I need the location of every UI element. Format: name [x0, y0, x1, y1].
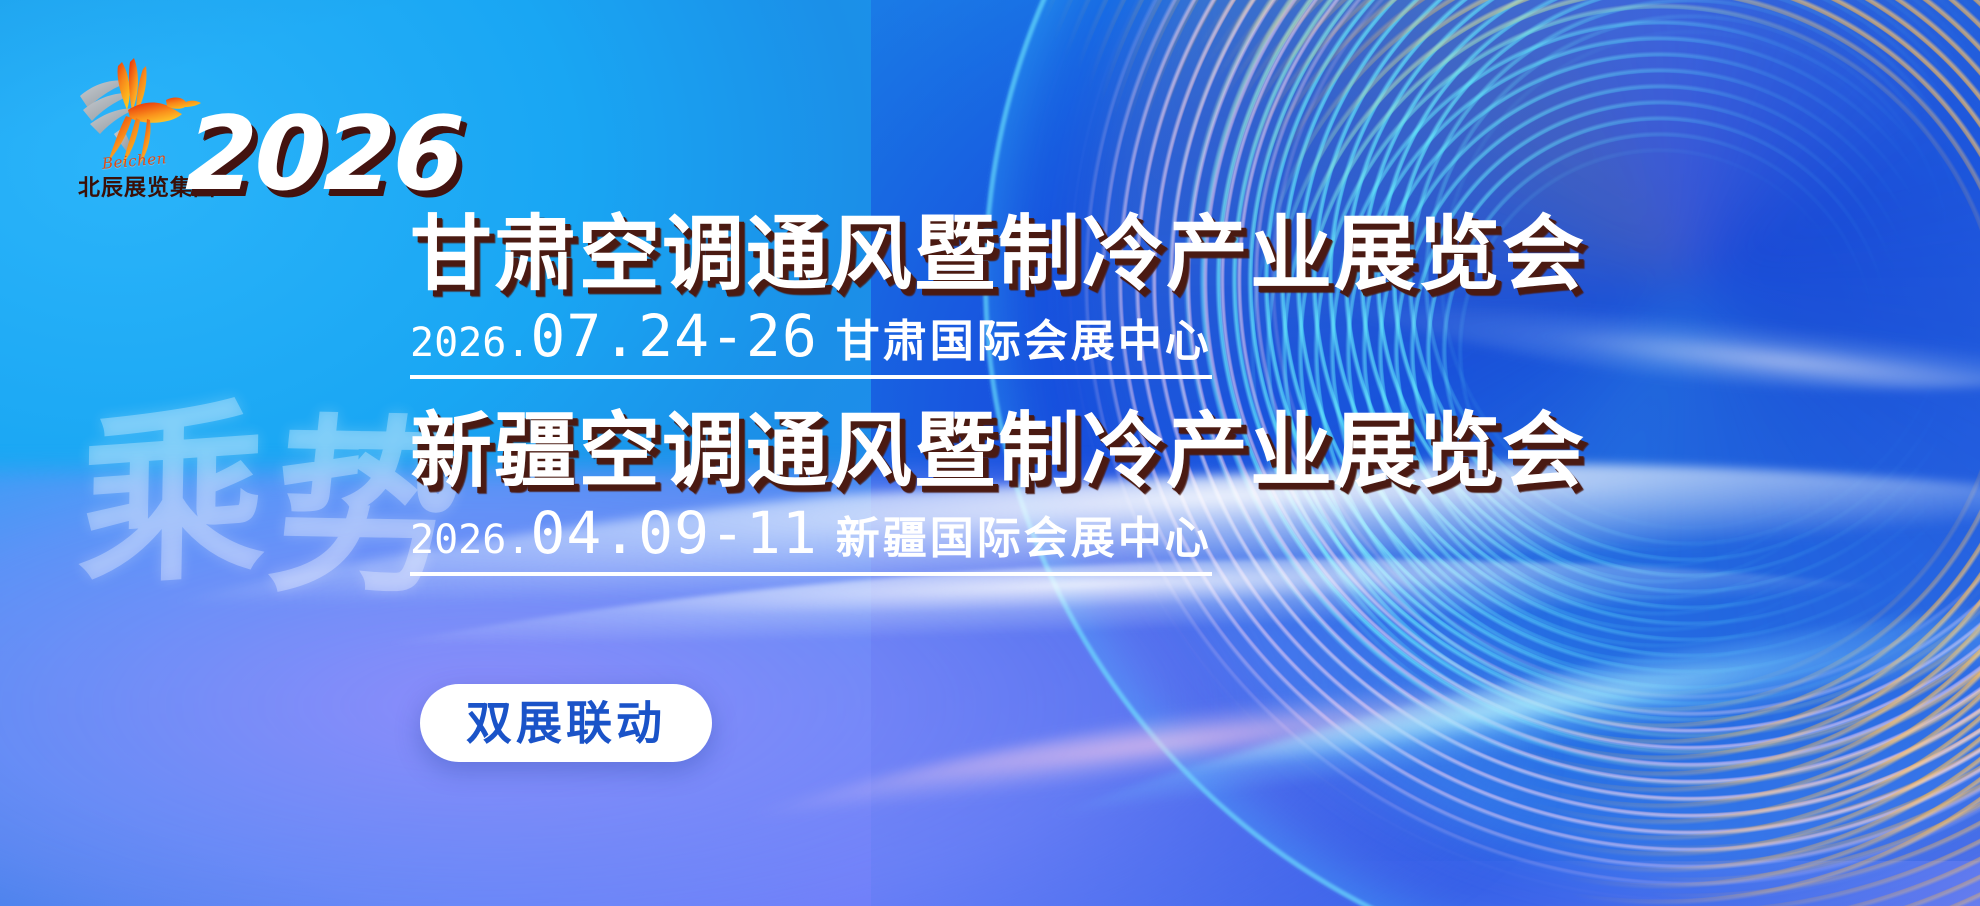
- event-date-range-2: 04.09-11: [530, 499, 817, 567]
- exhibition-banner: 乘势: [0, 0, 1980, 906]
- watermark-char-1: 乘: [77, 378, 274, 613]
- event-venue-1: 甘肃国际会展中心: [836, 320, 1212, 364]
- event-block-2: 新疆空调通风暨制冷产业展览会 2026.04.09-11 新疆国际会展中心: [410, 409, 1630, 576]
- event-date-1: 2026.07.24-26: [410, 307, 818, 365]
- year-badge: 2026: [184, 104, 463, 206]
- event-title-1: 甘肃空调通风暨制冷产业展览会: [410, 212, 1630, 299]
- dual-expo-badge[interactable]: 双展联动: [420, 684, 712, 762]
- event-venue-2: 新疆国际会展中心: [836, 517, 1212, 561]
- event-subline-2: 2026.04.09-11 新疆国际会展中心: [410, 504, 1212, 576]
- event-date-range-1: 07.24-26: [530, 302, 817, 370]
- event-date-2: 2026.04.09-11: [410, 504, 818, 562]
- event-title-2: 新疆空调通风暨制冷产业展览会: [410, 409, 1630, 496]
- events-container: 甘肃空调通风暨制冷产业展览会 2026.07.24-26 甘肃国际会展中心 新疆…: [410, 212, 1630, 576]
- event-date-year-1: 2026.: [410, 320, 530, 366]
- calligraphy-watermark: 乘势: [76, 386, 410, 660]
- event-date-year-2: 2026.: [410, 517, 530, 563]
- event-block-1: 甘肃空调通风暨制冷产业展览会 2026.07.24-26 甘肃国际会展中心: [410, 212, 1630, 379]
- dual-expo-badge-label: 双展联动: [466, 700, 666, 746]
- event-subline-1: 2026.07.24-26 甘肃国际会展中心: [410, 307, 1212, 379]
